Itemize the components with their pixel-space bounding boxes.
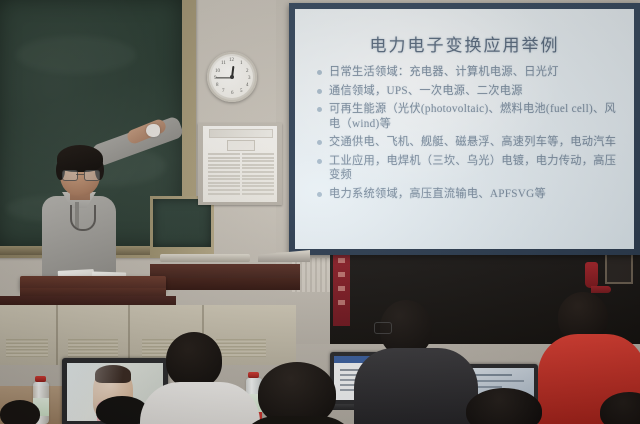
clock-numeral-1: 1 [240,61,243,66]
clock-numeral-4: 4 [246,83,249,88]
projection-screen: 电力电子变换应用举例 日常生活领域：充电器、计算机电源、日光灯 通信领域，UPS… [295,9,634,249]
slide-bullet-text: 通信领域，UPS、一次电源、二次电源 [329,84,523,99]
slide-bullet-item: 工业应用，电焊机（三坎、乌光）电镀，电力传动，高压变频 [317,154,622,183]
slide-bullet-text: 工业应用，电焊机（三坎、乌光）电镀，电力传动，高压变频 [329,154,622,183]
clock-numeral-12: 12 [229,58,234,63]
slide-bullet-text: 交通供电、飞机、舰艇、磁悬浮、高速列车等，电动汽车 [329,135,616,150]
projection-screen-frame: 电力电子变换应用举例 日常生活领域：充电器、计算机电源、日光灯 通信领域，UPS… [289,3,640,255]
fire-extinguisher-nozzle [591,286,611,293]
desk-metal-rail [160,254,250,262]
lecturer-lanyard [70,205,96,231]
notice-subheader-box [227,140,255,151]
lecture-hall-photo: 12 1 2 3 4 5 6 7 8 9 10 11 [0,0,640,424]
clock-numeral-11: 11 [221,61,226,66]
clock-numeral-8: 8 [216,83,219,88]
slide-title: 电力电子变换应用举例 [295,31,634,56]
clock-numeral-6: 6 [231,91,234,96]
instructor-desk-face [150,278,300,290]
bullet-dot-icon [317,159,322,164]
slide-bullet-text: 可再生能源（光伏(photovoltaic)、燃料电池(fuel cell)、风… [329,102,622,131]
bullet-dot-icon [317,89,322,94]
notice-header-bar [209,129,273,138]
bullet-dot-icon [317,192,322,197]
clock-numeral-5: 5 [240,89,243,94]
clock-center-pin [230,75,234,79]
notice-column-right [242,153,274,199]
bullet-dot-icon [317,107,322,112]
clock-numeral-10: 10 [215,69,220,74]
wall-clock: 12 1 2 3 4 5 6 7 8 9 10 11 [207,52,257,102]
slide-bullet-item: 通信领域，UPS、一次电源、二次电源 [317,84,622,99]
slide-bullet-item: 交通供电、飞机、舰艇、磁悬浮、高速列车等，电动汽车 [317,135,622,150]
bullet-dot-icon [317,70,322,75]
clock-numeral-7: 7 [222,89,225,94]
red-banner [333,252,350,326]
cabinet-row [0,305,296,365]
fire-extinguisher [585,262,598,288]
clock-numeral-2: 2 [246,69,249,74]
slide-bullet-text: 日常生活领域：充电器、计算机电源、日光灯 [329,65,559,80]
slide-bullet-item: 日常生活领域：充电器、计算机电源、日光灯 [317,65,622,80]
glasses-icon [62,170,98,179]
lecturer-pointing-hand [146,124,160,137]
slide-bullet-item: 电力系统领域，高压直流输电、APFSVG等 [317,187,622,202]
notice-board [198,123,282,205]
lecturer-hair [57,145,103,172]
notice-column-left [208,153,240,199]
slide-bullet-text: 电力系统领域，高压直流输电、APFSVG等 [329,187,546,202]
glasses-icon [374,322,392,334]
framed-picture [605,250,633,284]
slide-bullet-list: 日常生活领域：充电器、计算机电源、日光灯 通信领域，UPS、一次电源、二次电源 … [317,65,622,205]
clock-face: 12 1 2 3 4 5 6 7 8 9 10 11 [211,56,253,98]
clock-numeral-3: 3 [248,76,251,81]
slide-bullet-item: 可再生能源（光伏(photovoltaic)、燃料电池(fuel cell)、风… [317,102,622,131]
notice-sheet [203,126,277,202]
bullet-dot-icon [317,140,322,145]
